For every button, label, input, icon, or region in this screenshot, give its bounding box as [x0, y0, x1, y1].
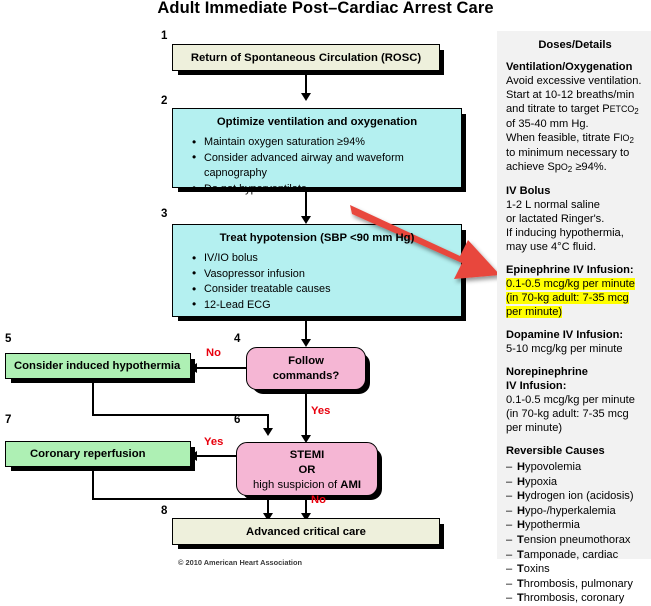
box-7-number: 7	[5, 414, 11, 426]
connector-7-right	[92, 498, 269, 500]
box-3-item: 12-Lead ECG	[189, 298, 461, 314]
connector-1-to-2	[305, 71, 307, 95]
cause-initial: T	[517, 578, 524, 590]
sidebar-heading-dopamine: Dopamine IV Infusion:	[506, 328, 644, 342]
box-2-item: Do not hyperventilate	[189, 182, 461, 198]
page-title: Adult Immediate Post–Cardiac Arrest Care	[0, 0, 651, 18]
box-8-advanced-critical-care[interactable]: Advanced critical care	[172, 518, 440, 545]
connector-4-to-5	[196, 367, 247, 369]
box-6-line3-text: high suspicion of	[253, 479, 340, 491]
box-2-item: Consider advanced airway and waveform ca…	[189, 151, 461, 182]
sidebar-text: (in 70-kg adult: 7-35 mcg	[506, 407, 644, 421]
connector-5-right	[92, 414, 269, 416]
box-2-number: 2	[161, 95, 167, 107]
reversible-cause-item: Thrombosis, coronary	[506, 591, 644, 606]
cause-text: ydrogen ion (acidosis)	[525, 490, 634, 502]
reversible-cause-item: Toxins	[506, 562, 644, 577]
reversible-cause-item: Hydrogen ion (acidosis)	[506, 489, 644, 504]
sidebar-text: If inducing hypothermia,	[506, 226, 644, 240]
smallcaps-etco: ETCO	[610, 104, 635, 114]
box-4-follow-commands[interactable]: Follow commands?	[246, 347, 366, 390]
box-7-coronary-reperfusion[interactable]: Coronary reperfusion	[5, 441, 191, 467]
sidebar-text: Avoid excessive ventilation.	[506, 74, 644, 88]
subscript-2: 2	[568, 165, 572, 174]
smallcaps-o: O	[561, 162, 568, 172]
cause-text: ypothermia	[525, 519, 580, 531]
cause-initial: T	[517, 563, 524, 575]
box-3-item: IV/IO bolus	[189, 251, 461, 267]
doses-details-sidebar: Doses/Details Ventilation/Oxygenation Av…	[497, 31, 651, 559]
reversible-cause-item: Hypo-/hyperkalemia	[506, 504, 644, 519]
cause-text: ypoxia	[525, 476, 557, 488]
box-8-title: Advanced critical care	[173, 519, 439, 538]
cause-text: ypovolemia	[525, 461, 581, 473]
sidebar-text: may use 4°C fluid.	[506, 240, 644, 254]
box-3-title: Treat hypotension (SBP <90 mm Hg)	[173, 232, 461, 244]
sidebar-text: Start at 10-12 breaths/min	[506, 88, 644, 102]
arrow-1-to-2	[301, 93, 311, 101]
branch-label-yes-6: Yes	[204, 436, 223, 448]
sidebar-text: or lactated Ringer's.	[506, 212, 644, 226]
cause-initial: H	[517, 461, 525, 473]
box-2-title: Optimize ventilation and oxygenation	[173, 116, 461, 128]
highlighted-text: (in 70-kg adult: 7-35 mcg	[506, 292, 629, 304]
box-3-item: Vasopressor infusion	[189, 267, 461, 283]
box-4-line1: Follow	[247, 354, 365, 369]
box-8-number: 8	[161, 505, 167, 517]
box-1-number: 1	[161, 30, 167, 42]
sidebar-heading-epinephrine: Epinephrine IV Infusion:	[506, 263, 644, 277]
connector-6-to-7	[196, 455, 237, 457]
box-3-list: IV/IO bolus Vasopressor infusion Conside…	[173, 251, 461, 313]
box-2-list: Maintain oxygen saturation ≥94% Consider…	[173, 135, 461, 197]
sidebar-text: and titrate to target P	[506, 103, 610, 115]
arrow-3-to-4	[301, 339, 311, 347]
box-4-line2: commands?	[247, 369, 365, 384]
cause-initial: H	[517, 519, 525, 531]
sidebar-heading-norepinephrine: Norepinephrine	[506, 365, 644, 379]
box-7-title: Coronary reperfusion	[6, 442, 190, 460]
spacer	[506, 356, 644, 365]
sidebar-text: of 35-40 mm Hg.	[506, 117, 644, 131]
sidebar-heading-reversible-causes: Reversible Causes	[506, 444, 644, 458]
box-6-number: 6	[234, 414, 240, 426]
connector-4-to-6	[305, 390, 307, 440]
subscript-2: 2	[634, 107, 638, 116]
box-6-line2: OR	[237, 463, 377, 478]
reversible-cause-item: Hypothermia	[506, 518, 644, 533]
reversible-cause-item: Thrombosis, pulmonary	[506, 577, 644, 592]
box-6-line3: high suspicion of AMI	[237, 478, 377, 493]
box-5-title: Consider induced hypothermia	[6, 354, 190, 372]
reversible-cause-item: Tension pneumothorax	[506, 533, 644, 548]
box-6-line1: STEMI	[237, 448, 377, 463]
connector-7-down	[92, 467, 94, 500]
arrow-2-to-3	[301, 216, 311, 224]
cause-initial: H	[517, 476, 525, 488]
sidebar-text: per minute)	[506, 421, 644, 435]
box-3-treat-hypotension[interactable]: Treat hypotension (SBP <90 mm Hg) IV/IO …	[172, 224, 462, 317]
branch-label-yes-4: Yes	[311, 405, 330, 417]
sidebar-heading-iv-bolus: IV Bolus	[506, 184, 644, 198]
box-4-number: 4	[234, 333, 240, 345]
arrow-5-to-6	[263, 428, 273, 436]
cause-text: amponade, cardiac	[524, 549, 618, 561]
cause-initial: H	[517, 505, 525, 517]
highlighted-text: per minute)	[506, 306, 562, 318]
sidebar-heading-norepinephrine-2: IV Infusion:	[506, 379, 644, 393]
sidebar-text: 0.1-0.5 mcg/kg per minute	[506, 393, 644, 407]
spacer	[506, 175, 644, 184]
cause-text: oxins	[524, 563, 550, 575]
sidebar-heading-ventilation: Ventilation/Oxygenation	[506, 60, 644, 74]
box-3-item: Consider treatable causes	[189, 282, 461, 298]
algorithm-poster: Adult Immediate Post–Cardiac Arrest Care…	[0, 0, 651, 567]
box-5-induced-hypothermia[interactable]: Consider induced hypothermia	[5, 353, 191, 379]
box-1-rosc[interactable]: Return of Spontaneous Circulation (ROSC)	[172, 44, 440, 71]
sidebar-epinephrine-highlight: 0.1-0.5 mcg/kg per minute (in 70-kg adul…	[506, 277, 644, 319]
sidebar-text: achieve Sp	[506, 161, 561, 173]
cause-text: ension pneumothorax	[524, 534, 631, 546]
sidebar-text-petco2: and titrate to target PETCO2	[506, 102, 644, 117]
sidebar-text: 5-10 mcg/kg per minute	[506, 342, 644, 356]
reversible-causes-list: HypovolemiaHypoxiaHydrogen ion (acidosis…	[506, 460, 644, 606]
highlighted-text: 0.1-0.5 mcg/kg per minute	[506, 278, 635, 290]
box-1-title: Return of Spontaneous Circulation (ROSC)	[173, 45, 439, 64]
cause-initial: T	[517, 549, 524, 561]
box-6-ami: AMI	[340, 479, 361, 491]
spacer	[506, 254, 644, 263]
branch-label-no-6: No	[311, 494, 326, 506]
sidebar-header: Doses/Details	[506, 39, 644, 51]
cause-initial: H	[517, 490, 525, 502]
box-2-item: Maintain oxygen saturation ≥94%	[189, 135, 461, 151]
reversible-cause-item: Hypoxia	[506, 475, 644, 490]
branch-label-no-4: No	[206, 347, 221, 359]
box-2-optimize-ventilation[interactable]: Optimize ventilation and oxygenation Mai…	[172, 108, 462, 188]
sidebar-text: ≥94%.	[572, 161, 606, 173]
spacer	[506, 435, 644, 444]
box-3-number: 3	[161, 208, 167, 220]
sidebar-text-fio2: When feasible, titrate FIO2	[506, 131, 644, 146]
sidebar-text-spo2: achieve SpO2 ≥94%.	[506, 160, 644, 175]
connector-5-down	[92, 379, 94, 416]
cause-initial: T	[517, 592, 524, 604]
reversible-cause-item: Tamponade, cardiac	[506, 548, 644, 563]
reversible-cause-item: Hypovolemia	[506, 460, 644, 475]
connector-3-to-4	[305, 317, 307, 341]
cause-initial: T	[517, 534, 524, 546]
cause-text: hrombosis, pulmonary	[524, 578, 633, 590]
sidebar-text: 1-2 L normal saline	[506, 198, 644, 212]
copyright-footer: © 2010 American Heart Association	[0, 558, 480, 567]
spacer	[506, 319, 644, 328]
box-6-stemi[interactable]: STEMI OR high suspicion of AMI	[236, 442, 378, 496]
cause-text: ypo-/hyperkalemia	[525, 505, 616, 517]
sidebar-text: When feasible, titrate F	[506, 132, 620, 144]
subscript-2: 2	[629, 136, 633, 145]
cause-text: hrombosis, coronary	[524, 592, 625, 604]
sidebar-text: to minimum necessary to	[506, 146, 644, 160]
box-5-number: 5	[5, 333, 11, 345]
